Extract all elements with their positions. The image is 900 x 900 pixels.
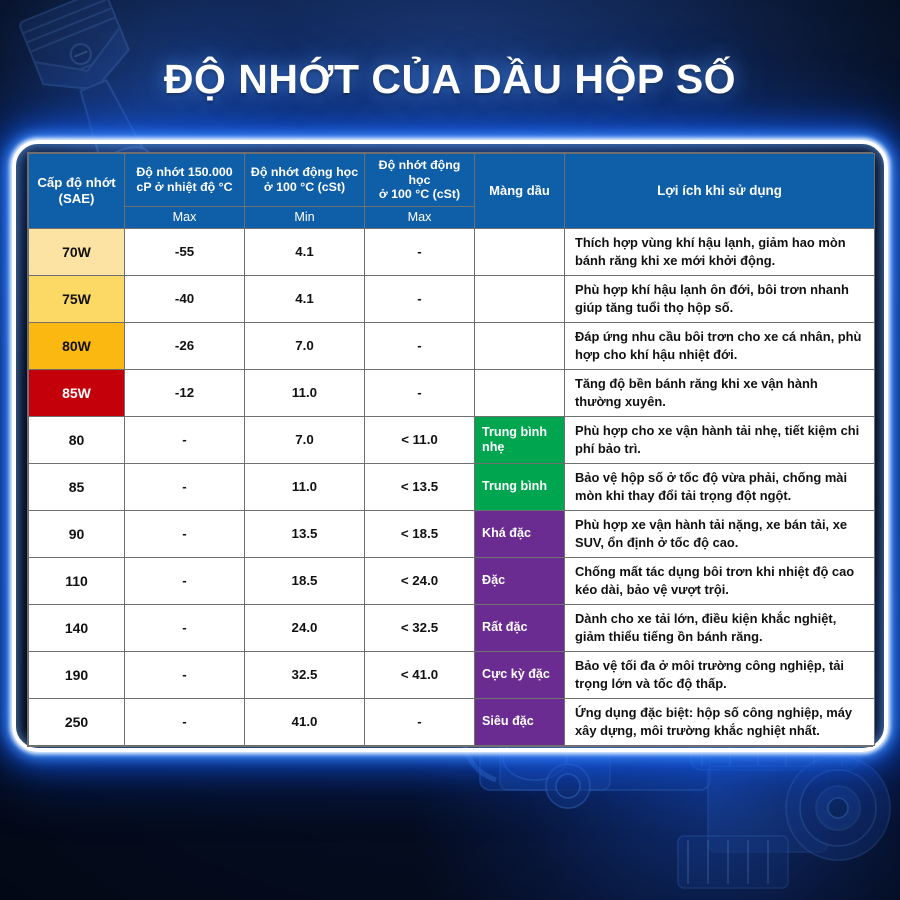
cell-kv100-min: 11.0 — [245, 463, 365, 510]
cell-sae-grade: 190 — [29, 651, 125, 698]
cell-oil-film: Trung bình nhẹ — [475, 416, 565, 463]
cell-sae-grade: 85 — [29, 463, 125, 510]
cell-benefit: Chống mất tác dụng bôi trơn khi nhiệt độ… — [565, 557, 875, 604]
header-sub-col2-max: Max — [125, 206, 245, 228]
cell-viscosity-150k-max: -26 — [125, 322, 245, 369]
header-kinematic-viscosity-max: Độ nhớt động học ở 100 °C (cSt) — [365, 154, 475, 207]
cell-viscosity-150k-max: - — [125, 463, 245, 510]
cell-viscosity-150k-max: -55 — [125, 228, 245, 275]
cell-viscosity-150k-max: -40 — [125, 275, 245, 322]
cell-kv100-max: - — [365, 698, 475, 745]
header-col3-line1: Độ nhớt động học — [248, 165, 361, 180]
viscosity-table-container: Cấp độ nhớt (SAE) Độ nhớt 150.000 cP ở n… — [27, 152, 873, 747]
cell-sae-grade: 75W — [29, 275, 125, 322]
cell-benefit: Thích hợp vùng khí hậu lạnh, giảm hao mò… — [565, 228, 875, 275]
cell-viscosity-150k-max: - — [125, 604, 245, 651]
header-sae-grade: Cấp độ nhớt (SAE) — [29, 154, 125, 229]
cell-oil-film — [475, 275, 565, 322]
cell-kv100-max: < 11.0 — [365, 416, 475, 463]
cell-kv100-min: 4.1 — [245, 228, 365, 275]
header-col4-line2: ở 100 °C (cSt) — [368, 187, 471, 202]
cell-sae-grade: 80W — [29, 322, 125, 369]
cell-sae-grade: 70W — [29, 228, 125, 275]
cell-viscosity-150k-max: - — [125, 698, 245, 745]
cell-benefit: Tăng độ bền bánh răng khi xe vận hành th… — [565, 369, 875, 416]
cell-kv100-max: - — [365, 275, 475, 322]
cell-kv100-min: 41.0 — [245, 698, 365, 745]
cell-sae-grade: 140 — [29, 604, 125, 651]
cell-benefit: Dành cho xe tải lớn, điều kiện khắc nghi… — [565, 604, 875, 651]
table-row: 110-18.5< 24.0ĐặcChống mất tác dụng bôi … — [29, 557, 875, 604]
cell-oil-film: Cực kỳ đặc — [475, 651, 565, 698]
cell-kv100-max: < 41.0 — [365, 651, 475, 698]
header-sub-col3-min: Min — [245, 206, 365, 228]
cell-kv100-max: < 32.5 — [365, 604, 475, 651]
cell-oil-film — [475, 228, 565, 275]
cell-oil-film: Siêu đặc — [475, 698, 565, 745]
cell-kv100-min: 7.0 — [245, 416, 365, 463]
table-row: 250-41.0-Siêu đặcỨng dụng đặc biệt: hộp … — [29, 698, 875, 745]
viscosity-table: Cấp độ nhớt (SAE) Độ nhớt 150.000 cP ở n… — [28, 153, 875, 746]
cell-benefit: Bảo vệ hộp số ở tốc độ vừa phải, chống m… — [565, 463, 875, 510]
cell-benefit: Đáp ứng nhu cầu bôi trơn cho xe cá nhân,… — [565, 322, 875, 369]
cell-oil-film: Đặc — [475, 557, 565, 604]
cell-benefit: Phù hợp xe vận hành tải nặng, xe bán tải… — [565, 510, 875, 557]
cell-kv100-min: 18.5 — [245, 557, 365, 604]
header-col4-line1: Độ nhớt động học — [368, 158, 471, 187]
table-body: 70W-554.1-Thích hợp vùng khí hậu lạnh, g… — [29, 228, 875, 745]
cell-benefit: Ứng dụng đặc biệt: hộp số công nghiệp, m… — [565, 698, 875, 745]
table-header-row-1: Cấp độ nhớt (SAE) Độ nhớt 150.000 cP ở n… — [29, 154, 875, 207]
table-row: 70W-554.1-Thích hợp vùng khí hậu lạnh, g… — [29, 228, 875, 275]
cell-kv100-min: 7.0 — [245, 322, 365, 369]
cell-oil-film: Khá đặc — [475, 510, 565, 557]
header-sae-line1: Cấp độ nhớt — [32, 175, 121, 191]
cell-viscosity-150k-max: - — [125, 416, 245, 463]
cell-kv100-max: < 13.5 — [365, 463, 475, 510]
cell-sae-grade: 110 — [29, 557, 125, 604]
cell-kv100-min: 4.1 — [245, 275, 365, 322]
header-viscosity-150k: Độ nhớt 150.000 cP ở nhiệt độ °C — [125, 154, 245, 207]
table-row: 80W-267.0-Đáp ứng nhu cầu bôi trơn cho x… — [29, 322, 875, 369]
table-row: 85W-1211.0-Tăng độ bền bánh răng khi xe … — [29, 369, 875, 416]
table-row: 90-13.5< 18.5Khá đặcPhù hợp xe vận hành … — [29, 510, 875, 557]
cell-oil-film: Rất đặc — [475, 604, 565, 651]
cell-benefit: Bảo vệ tối đa ở môi trường công nghiệp, … — [565, 651, 875, 698]
cell-benefit: Phù hợp cho xe vận hành tải nhẹ, tiết ki… — [565, 416, 875, 463]
table-row: 85-11.0< 13.5Trung bìnhBảo vệ hộp số ở t… — [29, 463, 875, 510]
cell-viscosity-150k-max: - — [125, 651, 245, 698]
cell-sae-grade: 90 — [29, 510, 125, 557]
cell-oil-film: Trung bình — [475, 463, 565, 510]
cell-sae-grade: 85W — [29, 369, 125, 416]
cell-viscosity-150k-max: - — [125, 510, 245, 557]
cell-kv100-min: 32.5 — [245, 651, 365, 698]
cell-oil-film — [475, 322, 565, 369]
cell-benefit: Phù hợp khí hậu lạnh ôn đới, bôi trơn nh… — [565, 275, 875, 322]
table-row: 190-32.5< 41.0Cực kỳ đặcBảo vệ tối đa ở … — [29, 651, 875, 698]
table-row: 80-7.0< 11.0Trung bình nhẹPhù hợp cho xe… — [29, 416, 875, 463]
header-col2-line1: Độ nhớt 150.000 — [128, 165, 241, 180]
cell-viscosity-150k-max: -12 — [125, 369, 245, 416]
table-row: 140-24.0< 32.5Rất đặcDành cho xe tải lớn… — [29, 604, 875, 651]
header-sub-col4-max: Max — [365, 206, 475, 228]
infographic-poster: ĐỘ NHỚT CỦA DẦU HỘP SỐ Cấp độ nhớt (SAE) — [0, 0, 900, 900]
cell-kv100-max: - — [365, 322, 475, 369]
cell-kv100-max: < 18.5 — [365, 510, 475, 557]
cell-kv100-min: 11.0 — [245, 369, 365, 416]
cell-kv100-max: - — [365, 369, 475, 416]
header-sae-line2: (SAE) — [32, 191, 121, 207]
header-col2-line2: cP ở nhiệt độ °C — [128, 180, 241, 195]
cell-kv100-max: - — [365, 228, 475, 275]
header-col3-line2: ở 100 °C (cSt) — [248, 180, 361, 195]
header-kinematic-viscosity-min: Độ nhớt động học ở 100 °C (cSt) — [245, 154, 365, 207]
table-header: Cấp độ nhớt (SAE) Độ nhớt 150.000 cP ở n… — [29, 154, 875, 229]
page-title: ĐỘ NHỚT CỦA DẦU HỘP SỐ — [0, 56, 900, 103]
cell-oil-film — [475, 369, 565, 416]
cell-viscosity-150k-max: - — [125, 557, 245, 604]
cell-kv100-max: < 24.0 — [365, 557, 475, 604]
table-row: 75W-404.1-Phù hợp khí hậu lạnh ôn đới, b… — [29, 275, 875, 322]
cell-kv100-min: 13.5 — [245, 510, 365, 557]
cell-kv100-min: 24.0 — [245, 604, 365, 651]
cell-sae-grade: 250 — [29, 698, 125, 745]
cell-sae-grade: 80 — [29, 416, 125, 463]
header-benefits: Lợi ích khi sử dụng — [565, 154, 875, 229]
header-oil-film: Màng dầu — [475, 154, 565, 229]
